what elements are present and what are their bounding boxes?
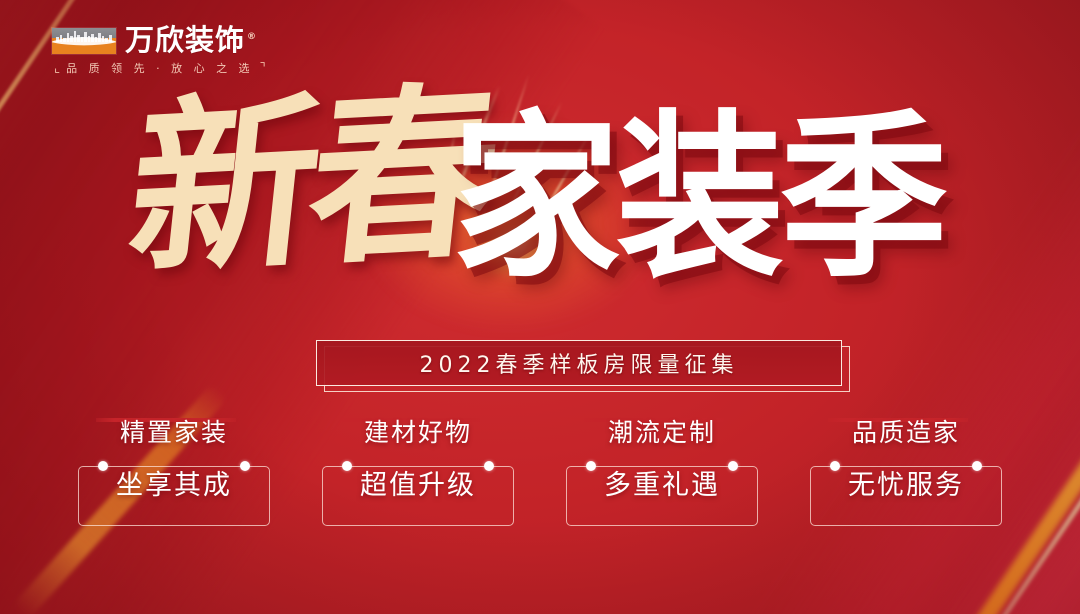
feature-list: 精置家装 坐享其成 建材好物 超值升级 潮流定制 多重礼遇 品质造家 无忧服务 [0, 420, 1080, 532]
feature-title: 潮流定制 [558, 420, 766, 445]
feature-subtitle: 坐享其成 [70, 472, 278, 499]
feature-title: 品质造家 [802, 420, 1010, 445]
cityscape-arc-icon [52, 28, 116, 54]
feature-item-3[interactable]: 潮流定制 多重礼遇 [558, 420, 766, 532]
logo-tagline: ⌞ 品 质 领 先 · 放 心 之 选 ⌝ [52, 60, 266, 76]
feature-subtitle: 无忧服务 [802, 472, 1010, 499]
feature-dot-left-icon [830, 461, 840, 471]
company-logo[interactable]: 万欣装饰® ⌞ 品 质 领 先 · 放 心 之 选 ⌝ [52, 26, 266, 76]
logo-arc-shape [52, 37, 116, 54]
registered-trademark-icon: ® [247, 32, 257, 42]
title-solid: 家装季 [452, 109, 944, 287]
feature-dot-left-icon [98, 461, 108, 471]
feature-dot-left-icon [342, 461, 352, 471]
promotional-banner: 万欣装饰® ⌞ 品 质 领 先 · 放 心 之 选 ⌝ 新春 家装季 2022春… [0, 0, 1080, 614]
feature-dot-left-icon [586, 461, 596, 471]
tagline-bracket-right-icon: ⌝ [260, 61, 266, 76]
feature-title: 建材好物 [314, 420, 522, 445]
logo-brand-name: 万欣装饰® [125, 26, 257, 55]
feature-dot-right-icon [240, 461, 250, 471]
main-title: 新春 家装季 [0, 96, 1080, 346]
logo-row: 万欣装饰® [52, 26, 266, 55]
feature-dot-right-icon [484, 461, 494, 471]
feature-item-4[interactable]: 品质造家 无忧服务 [802, 420, 1010, 532]
feature-dot-right-icon [728, 461, 738, 471]
logo-brand-text: 万欣装饰 [125, 23, 245, 57]
tagline-bracket-left-icon: ⌞ [54, 61, 60, 76]
feature-item-2[interactable]: 建材好物 超值升级 [314, 420, 522, 532]
feature-subtitle: 超值升级 [314, 472, 522, 499]
feature-title: 精置家装 [70, 420, 278, 445]
subtitle-text: 2022春季样板房限量征集 [420, 347, 739, 379]
feature-item-1[interactable]: 精置家装 坐享其成 [70, 420, 278, 532]
feature-dot-right-icon [972, 461, 982, 471]
logo-tagline-text: 品 质 领 先 · 放 心 之 选 [66, 60, 253, 76]
feature-subtitle: 多重礼遇 [558, 472, 766, 499]
title-calligraphy: 新春 [122, 87, 499, 278]
subtitle-box: 2022春季样板房限量征集 [316, 340, 842, 386]
